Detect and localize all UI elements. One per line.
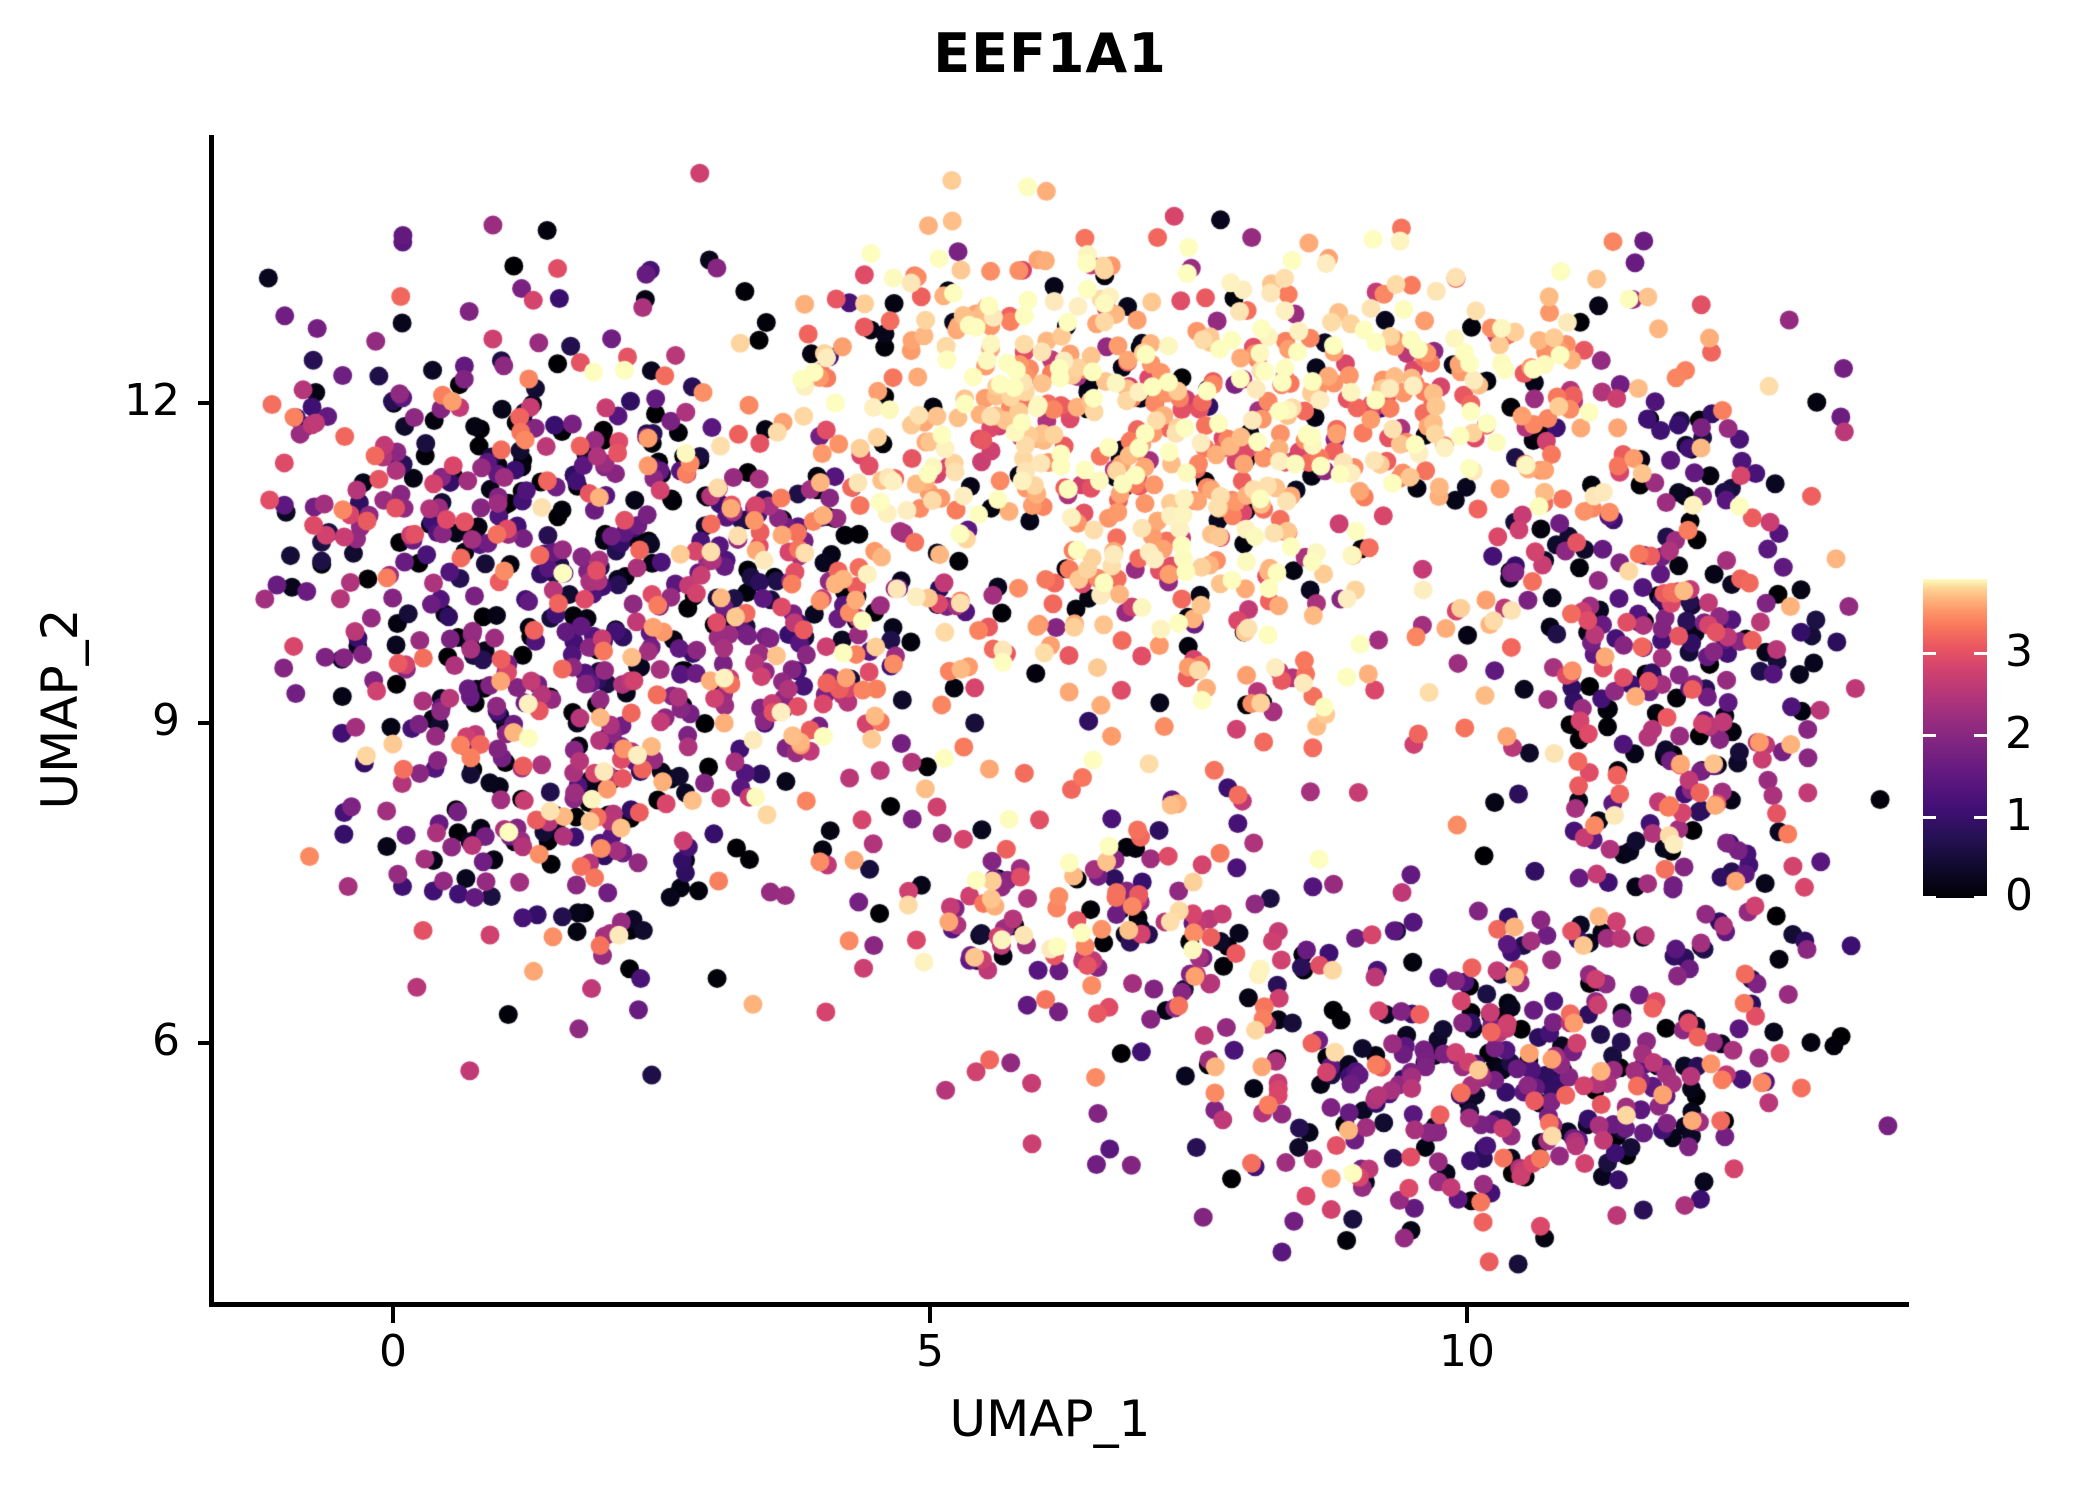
x-tick-label-5: 5 (850, 1330, 1010, 1374)
colorbar-tick-1-left (1923, 816, 1936, 819)
colorbar-tick-1-right (1974, 816, 1987, 819)
y-axis-label: UMAP_2 (31, 329, 89, 1089)
colorbar-tick-0-left (1923, 896, 1936, 899)
colorbar-gradient (1923, 579, 1987, 898)
scatter-plot-canvas (0, 0, 2100, 1500)
x-axis-spine (209, 1302, 1909, 1307)
x-tick-label-0: 0 (313, 1330, 473, 1374)
x-axis-label: UMAP_1 (0, 1390, 2100, 1448)
colorbar-tick-3-left (1923, 652, 1936, 655)
page-title: EEF1A1 (0, 22, 2100, 85)
x-tick-label-10: 10 (1387, 1330, 1547, 1374)
colorbar-tick-2-left (1923, 734, 1936, 737)
colorbar-label-1: 1 (2005, 794, 2033, 838)
y-tick-mark-6 (198, 1041, 214, 1045)
umap-feature-plot: EEF1A1 12 9 6 0 5 10 UMAP_1 UMAP_2 3 2 1… (0, 0, 2100, 1500)
y-tick-mark-9 (198, 721, 214, 725)
colorbar-label-0: 0 (2005, 874, 2033, 918)
x-tick-mark-10 (1465, 1307, 1469, 1323)
x-tick-mark-0 (391, 1307, 395, 1323)
colorbar-tick-3-right (1974, 652, 1987, 655)
colorbar-label-2: 2 (2005, 712, 2033, 756)
colorbar-label-3: 3 (2005, 630, 2033, 674)
x-tick-mark-5 (928, 1307, 932, 1323)
colorbar-tick-0-right (1974, 896, 1987, 899)
colorbar-tick-2-right (1974, 734, 1987, 737)
y-tick-mark-12 (198, 401, 214, 405)
